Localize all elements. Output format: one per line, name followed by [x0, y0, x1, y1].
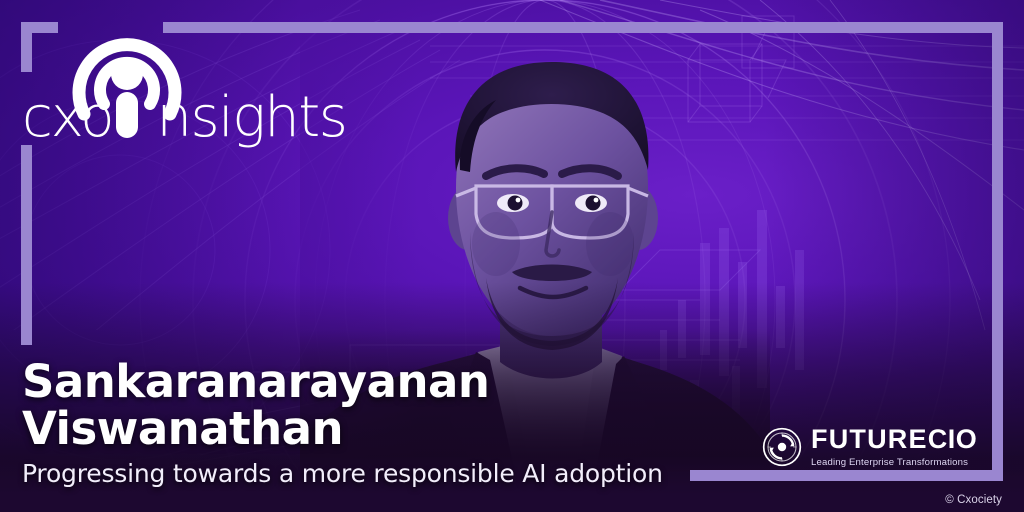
headline-block: Sankaranarayanan Viswanathan Progressing…	[22, 359, 722, 488]
futurecio-wordmark: FUTURECIO	[811, 426, 977, 453]
futurecio-text-lockup: FUTURECIO Leading Enterprise Transformat…	[811, 426, 977, 468]
cxoinsights-logo[interactable]: cxonsights	[18, 16, 308, 141]
speaker-last-name: Viswanathan	[22, 406, 722, 452]
frame-left-vertical	[21, 145, 32, 345]
futurecio-word-suffix: CIO	[928, 424, 978, 454]
podcast-episode-banner: cxonsights Sankaranarayanan Viswanathan …	[0, 0, 1024, 512]
circular-tech-emblem-icon	[762, 427, 802, 467]
copyright-notice: © Cxociety	[945, 494, 1002, 506]
frame-bottom-horizontal	[690, 470, 1003, 481]
futurecio-logo[interactable]: FUTURECIO Leading Enterprise Transformat…	[762, 423, 990, 471]
frame-right-vertical	[992, 22, 1003, 481]
futurecio-tagline: Leading Enterprise Transformations	[811, 457, 977, 468]
logo-text-cxo: cxo	[22, 85, 112, 150]
futurecio-word-prefix: FUTURE	[811, 424, 928, 454]
speaker-first-name: Sankaranarayanan	[22, 359, 722, 405]
logo-text-nsights: nsights	[156, 85, 346, 150]
episode-title: Progressing towards a more responsible A…	[22, 459, 722, 488]
cxoinsights-wordmark: cxonsights	[22, 90, 346, 146]
